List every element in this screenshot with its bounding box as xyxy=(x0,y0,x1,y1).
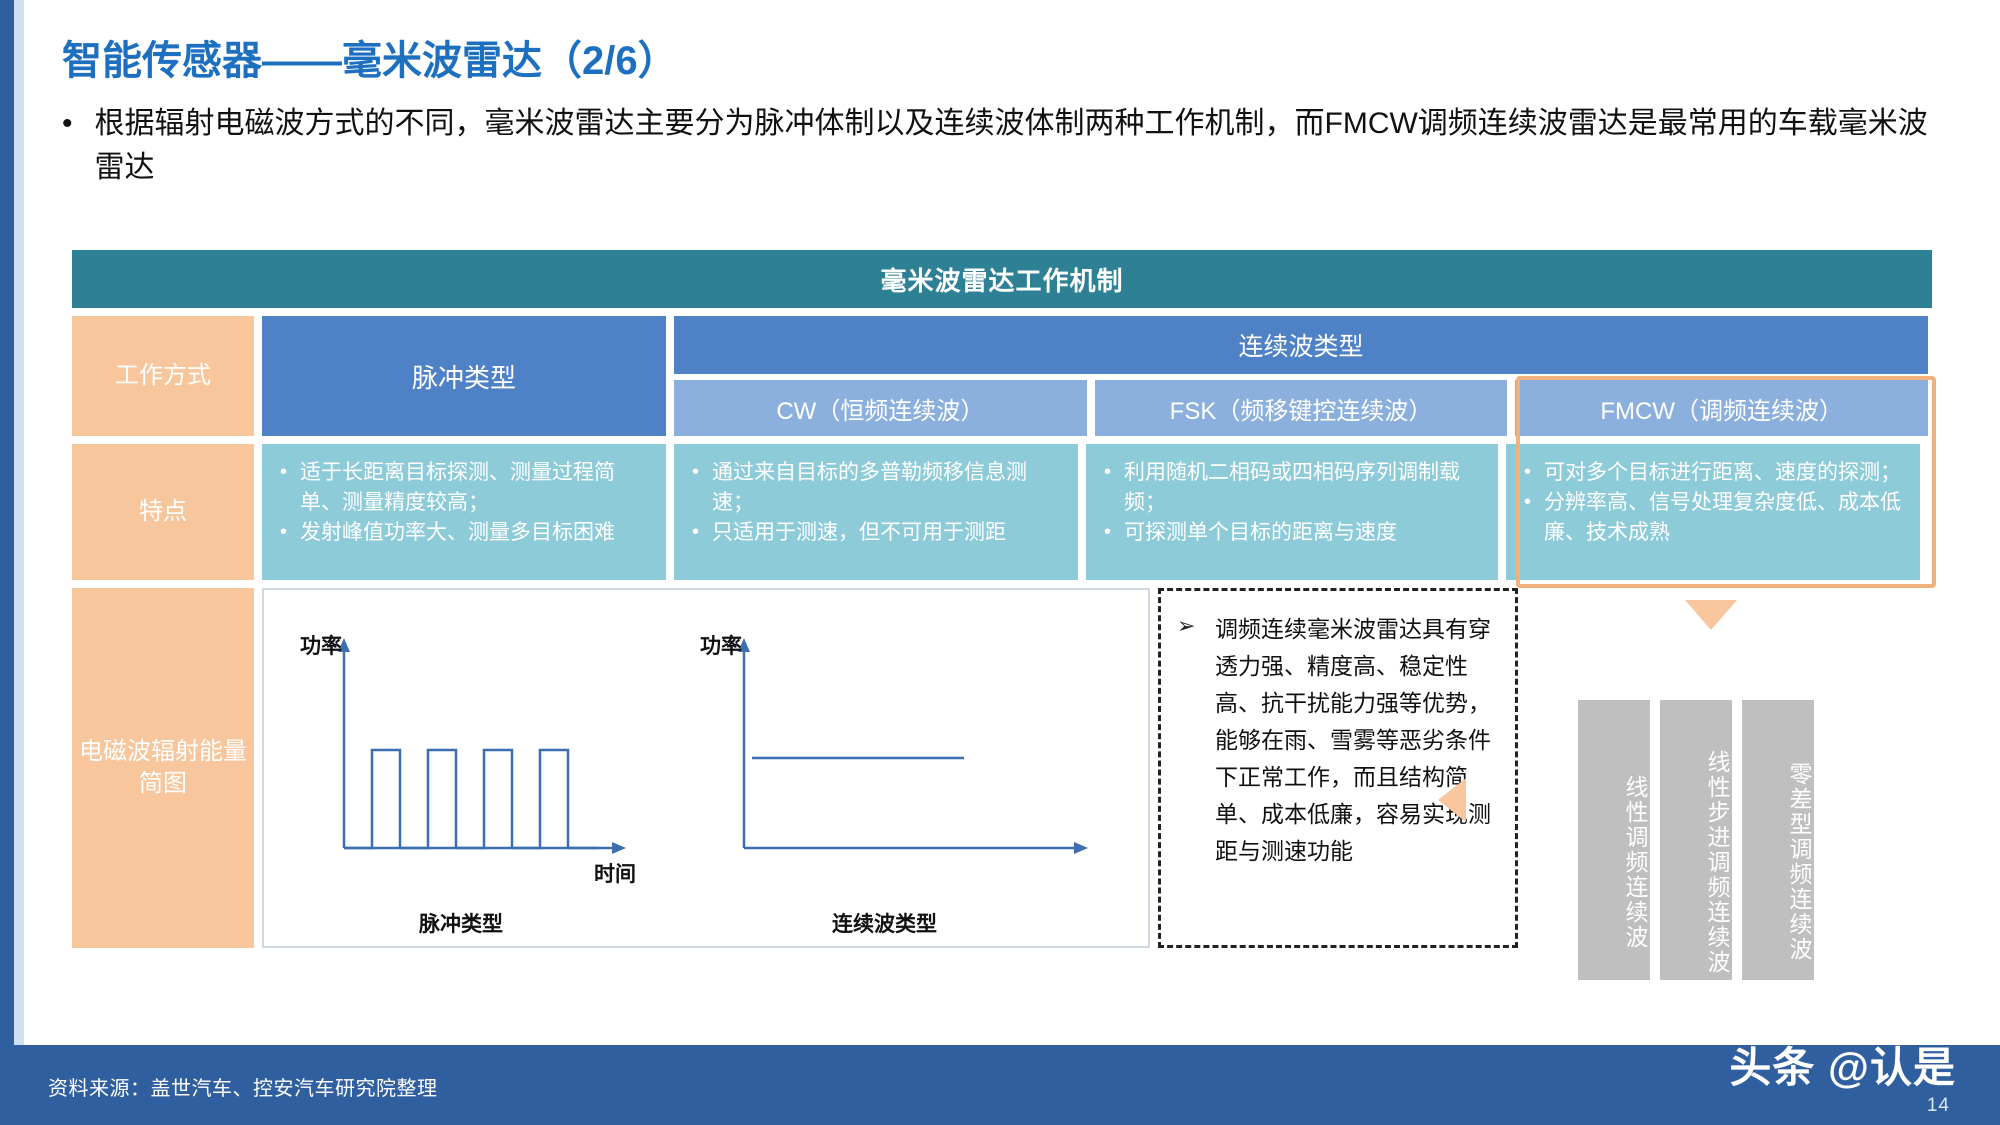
table-row-features: 特点 适于长距离目标探测、测量过程简单、测量精度较高； 发射峰值功率大、测量多目… xyxy=(72,444,1932,580)
row-label-work-mode: 工作方式 xyxy=(72,316,254,436)
table-row-work-mode: 工作方式 脉冲类型 连续波类型 CW（恒频连续波） FSK（频移键控连续波） F… xyxy=(72,316,1932,436)
left-rail-light-decoration xyxy=(14,0,24,1125)
lead-bullet-paragraph: • 根据辐射电磁波方式的不同，毫米波雷达主要分为脉冲体制以及连续波体制两种工作机… xyxy=(62,102,1942,190)
left-rail-decoration xyxy=(0,0,14,1125)
fmcw-advantages-text: 调频连续毫米波雷达具有穿透力强、精度高、稳定性高、抗干扰能力强等优势，能够在雨、… xyxy=(1215,611,1497,870)
row-label-diagram: 电磁波辐射能量简图 xyxy=(72,588,254,948)
bullet-marker-icon: • xyxy=(62,102,73,190)
source-note: 资料来源：盖世汽车、控安汽车研究院整理 xyxy=(48,1072,438,1101)
fmcw-subtype-label: 零差型调频连续波 xyxy=(1784,744,1814,980)
type-cell-cw[interactable]: CW（恒频连续波） xyxy=(674,380,1087,436)
watermark: 头条 @认是 14 xyxy=(1729,1034,1956,1095)
feature-item: 发射峰值功率大、测量多目标困难 xyxy=(280,518,650,548)
row-label-features: 特点 xyxy=(72,444,254,580)
feature-item: 可探测单个目标的距离与速度 xyxy=(1104,518,1482,548)
features-cell-cw: 通过来自目标的多普勒频移信息测速； 只适用于测速，但不可用于测距 xyxy=(674,444,1078,580)
watermark-text: 头条 @认是 xyxy=(1729,1044,1956,1091)
feature-item: 适于长距离目标探测、测量过程简单、测量精度较高； xyxy=(280,458,650,518)
type-cell-fsk[interactable]: FSK（频移键控连续波） xyxy=(1095,380,1508,436)
features-cell-pulse: 适于长距离目标探测、测量过程简单、测量精度较高； 发射峰值功率大、测量多目标困难 xyxy=(262,444,666,580)
pulse-chart-y-axis-label: 功率 xyxy=(300,630,342,660)
type-cell-fmcw[interactable]: FMCW（调频连续波） xyxy=(1515,380,1928,436)
fmcw-subtype-group: 线性调频连续波 线性步进调频连续波 零差型调频连续波 xyxy=(1578,700,1814,980)
slide-root: 智能传感器——毫米波雷达（2/6） • 根据辐射电磁波方式的不同，毫米波雷达主要… xyxy=(0,0,2000,1125)
fmcw-advantages-note: ➢ 调频连续毫米波雷达具有穿透力强、精度高、稳定性高、抗干扰能力强等优势，能够在… xyxy=(1158,588,1518,948)
feature-item: 只适用于测速，但不可用于测距 xyxy=(692,518,1062,548)
cw-chart-caption: 连续波类型 xyxy=(832,908,937,938)
feature-item: 利用随机二相码或四相码序列调制载频； xyxy=(1104,458,1482,518)
feature-item: 可对多个目标进行距离、速度的探测； xyxy=(1524,458,1904,488)
cw-chart-y-axis-label: 功率 xyxy=(700,630,742,660)
arrow-bullet-icon: ➢ xyxy=(1177,613,1195,639)
type-cell-continuous[interactable]: 连续波类型 xyxy=(674,316,1928,374)
lead-text: 根据辐射电磁波方式的不同，毫米波雷达主要分为脉冲体制以及连续波体制两种工作机制，… xyxy=(95,102,1942,190)
fmcw-subtype-box[interactable]: 零差型调频连续波 xyxy=(1742,700,1814,980)
feature-item: 通过来自目标的多普勒频移信息测速； xyxy=(692,458,1062,518)
continuous-subtype-row: CW（恒频连续波） FSK（频移键控连续波） FMCW（调频连续波） xyxy=(674,380,1928,436)
features-cell-fmcw: 可对多个目标进行距离、速度的探测； 分辨率高、信号处理复杂度低、成本低廉、技术成… xyxy=(1506,444,1920,580)
page-number: 14 xyxy=(1927,1095,1950,1117)
pulse-chart-x-axis-label: 时间 xyxy=(594,858,636,888)
fmcw-subtype-box[interactable]: 线性步进调频连续波 xyxy=(1660,700,1732,980)
type-cell-pulse[interactable]: 脉冲类型 xyxy=(262,316,666,436)
fmcw-subtype-label: 线性步进调频连续波 xyxy=(1702,744,1732,980)
fmcw-subtype-box[interactable]: 线性调频连续波 xyxy=(1578,700,1650,980)
type-group-continuous: 连续波类型 CW（恒频连续波） FSK（频移键控连续波） FMCW（调频连续波） xyxy=(674,316,1928,436)
energy-diagram-panel: 功率 时间 脉冲类型 功率 连续波类型 xyxy=(262,588,1150,948)
fmcw-subtype-label: 线性调频连续波 xyxy=(1620,744,1650,980)
arrow-left-icon xyxy=(1438,778,1466,822)
feature-item: 分辨率高、信号处理复杂度低、成本低廉、技术成熟 xyxy=(1524,488,1904,548)
features-cell-fsk: 利用随机二相码或四相码序列调制载频； 可探测单个目标的距离与速度 xyxy=(1086,444,1498,580)
pulse-chart-caption: 脉冲类型 xyxy=(419,908,503,938)
table-header: 毫米波雷达工作机制 xyxy=(72,250,1932,308)
page-title: 智能传感器——毫米波雷达（2/6） xyxy=(62,28,678,86)
